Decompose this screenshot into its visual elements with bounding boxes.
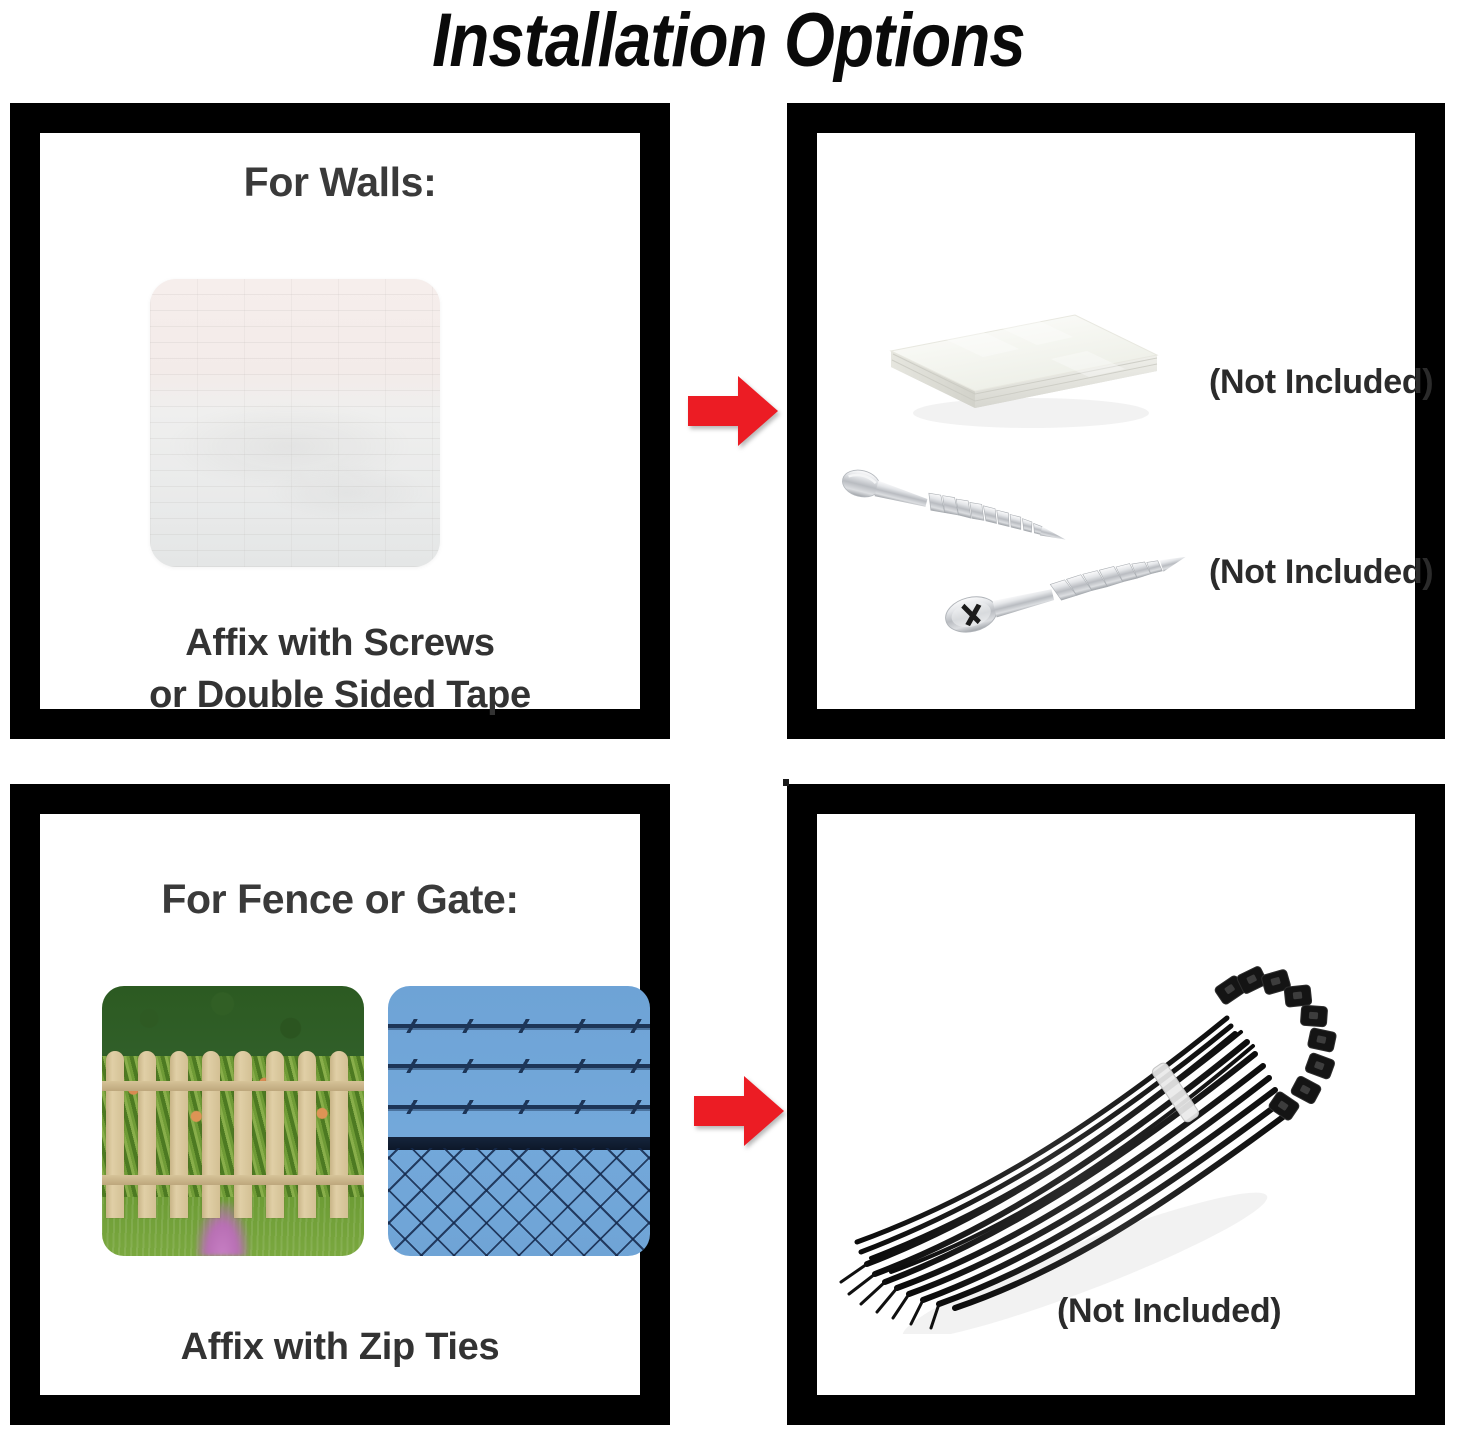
red-right-arrow-icon — [686, 372, 780, 450]
walls-caption-line1: Affix with Screws — [40, 618, 640, 669]
panel-wall-hardware: (Not Included) — [787, 103, 1445, 739]
chain-link-mesh — [388, 1148, 650, 1256]
panel-for-fence-or-gate-content: For Fence or Gate: — [40, 814, 640, 1395]
wooden-picket-fence-image — [102, 986, 364, 1256]
barbed-wire-1 — [388, 1024, 650, 1028]
panel-for-walls-content: For Walls: Affix with Screws or Double S… — [40, 133, 640, 709]
barbed-wire-3 — [388, 1105, 650, 1109]
wood-screw-icon — [837, 463, 1092, 553]
barbed-wire-2 — [388, 1064, 650, 1068]
ink-speck — [783, 779, 789, 786]
zipties-not-included-label: (Not Included) — [1057, 1292, 1281, 1331]
panel-zip-ties-content: (Not Included) — [817, 814, 1415, 1395]
walls-heading: For Walls: — [40, 159, 640, 206]
zip-tie-bundle-icon — [835, 914, 1375, 1334]
double-sided-tape-icon — [879, 263, 1179, 443]
picket-group — [102, 1051, 364, 1218]
white-brick-wall-image — [150, 279, 440, 567]
panel-for-walls: For Walls: Affix with Screws or Double S… — [10, 103, 670, 739]
fence-caption: Affix with Zip Ties — [40, 1322, 640, 1373]
installation-options-infographic: Installation Options For Walls: Affix wi… — [0, 0, 1457, 1434]
fence-rail-top — [102, 1081, 364, 1091]
fence-rail-bottom — [102, 1175, 364, 1185]
tape-not-included-label: (Not Included) — [1209, 363, 1433, 402]
fence-heading: For Fence or Gate: — [40, 876, 640, 923]
red-right-arrow-icon — [692, 1072, 786, 1150]
panel-wall-hardware-content: (Not Included) — [817, 133, 1415, 709]
chain-link-fence-image — [388, 986, 650, 1256]
panel-for-fence-or-gate: For Fence or Gate: — [10, 784, 670, 1425]
panel-zip-ties: (Not Included) — [787, 784, 1445, 1425]
walls-caption-line2: or Double Sided Tape — [40, 670, 640, 721]
phillips-wood-screw-icon — [937, 543, 1202, 643]
screws-not-included-label: (Not Included) — [1209, 553, 1433, 592]
page-title: Installation Options — [102, 0, 1355, 83]
